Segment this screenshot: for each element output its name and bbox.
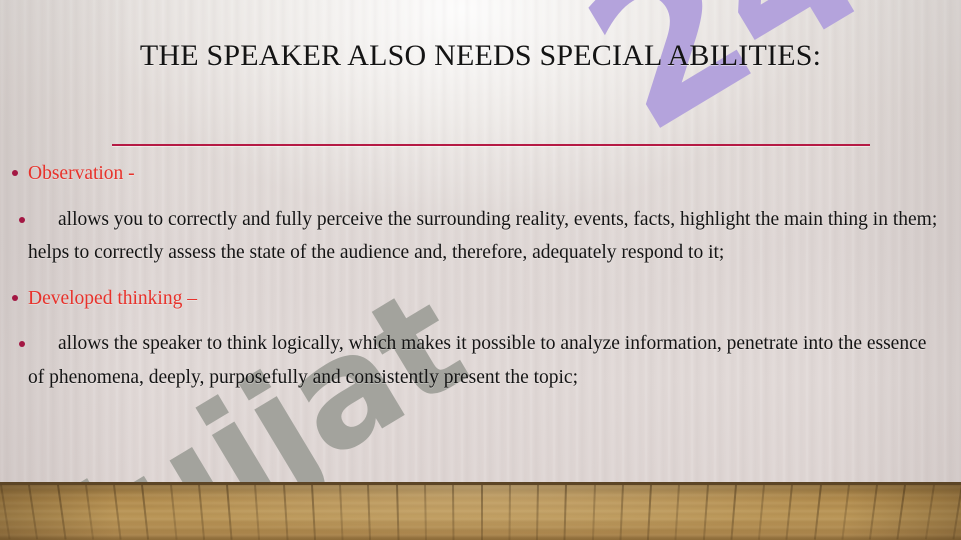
bullet-dot-icon [12,295,18,301]
bullet-dot-icon [19,217,25,223]
presentation-slide: 24 Hujjat THE SPEAKER ALSO NEEDS SPECIAL… [0,0,961,540]
bullet-heading: Developed thinking – [0,282,961,328]
bullet-text: Observation - [28,163,135,184]
page-title: THE SPEAKER ALSO NEEDS SPECIAL ABILITIES… [0,39,961,73]
floor-plank-line [480,485,482,540]
bullet-dot-icon [19,341,25,347]
bullet-paragraph: allows you to correctly and fully percei… [0,203,961,282]
slide-content: THE SPEAKER ALSO NEEDS SPECIAL ABILITIES… [0,0,961,486]
floor-plank-line [508,485,511,540]
bullet-paragraph: allows the speaker to think logically, w… [0,327,961,406]
bullet-heading: Observation - [0,157,961,203]
wooden-floor [0,482,961,540]
bullet-text: allows you to correctly and fully percei… [28,203,939,270]
bullet-list: Observation -allows you to correctly and… [0,157,961,406]
bullet-text: Developed thinking – [28,288,197,309]
bullet-dot-icon [12,170,18,176]
bullet-text: allows the speaker to think logically, w… [28,327,939,394]
title-divider-highlight [112,146,870,147]
